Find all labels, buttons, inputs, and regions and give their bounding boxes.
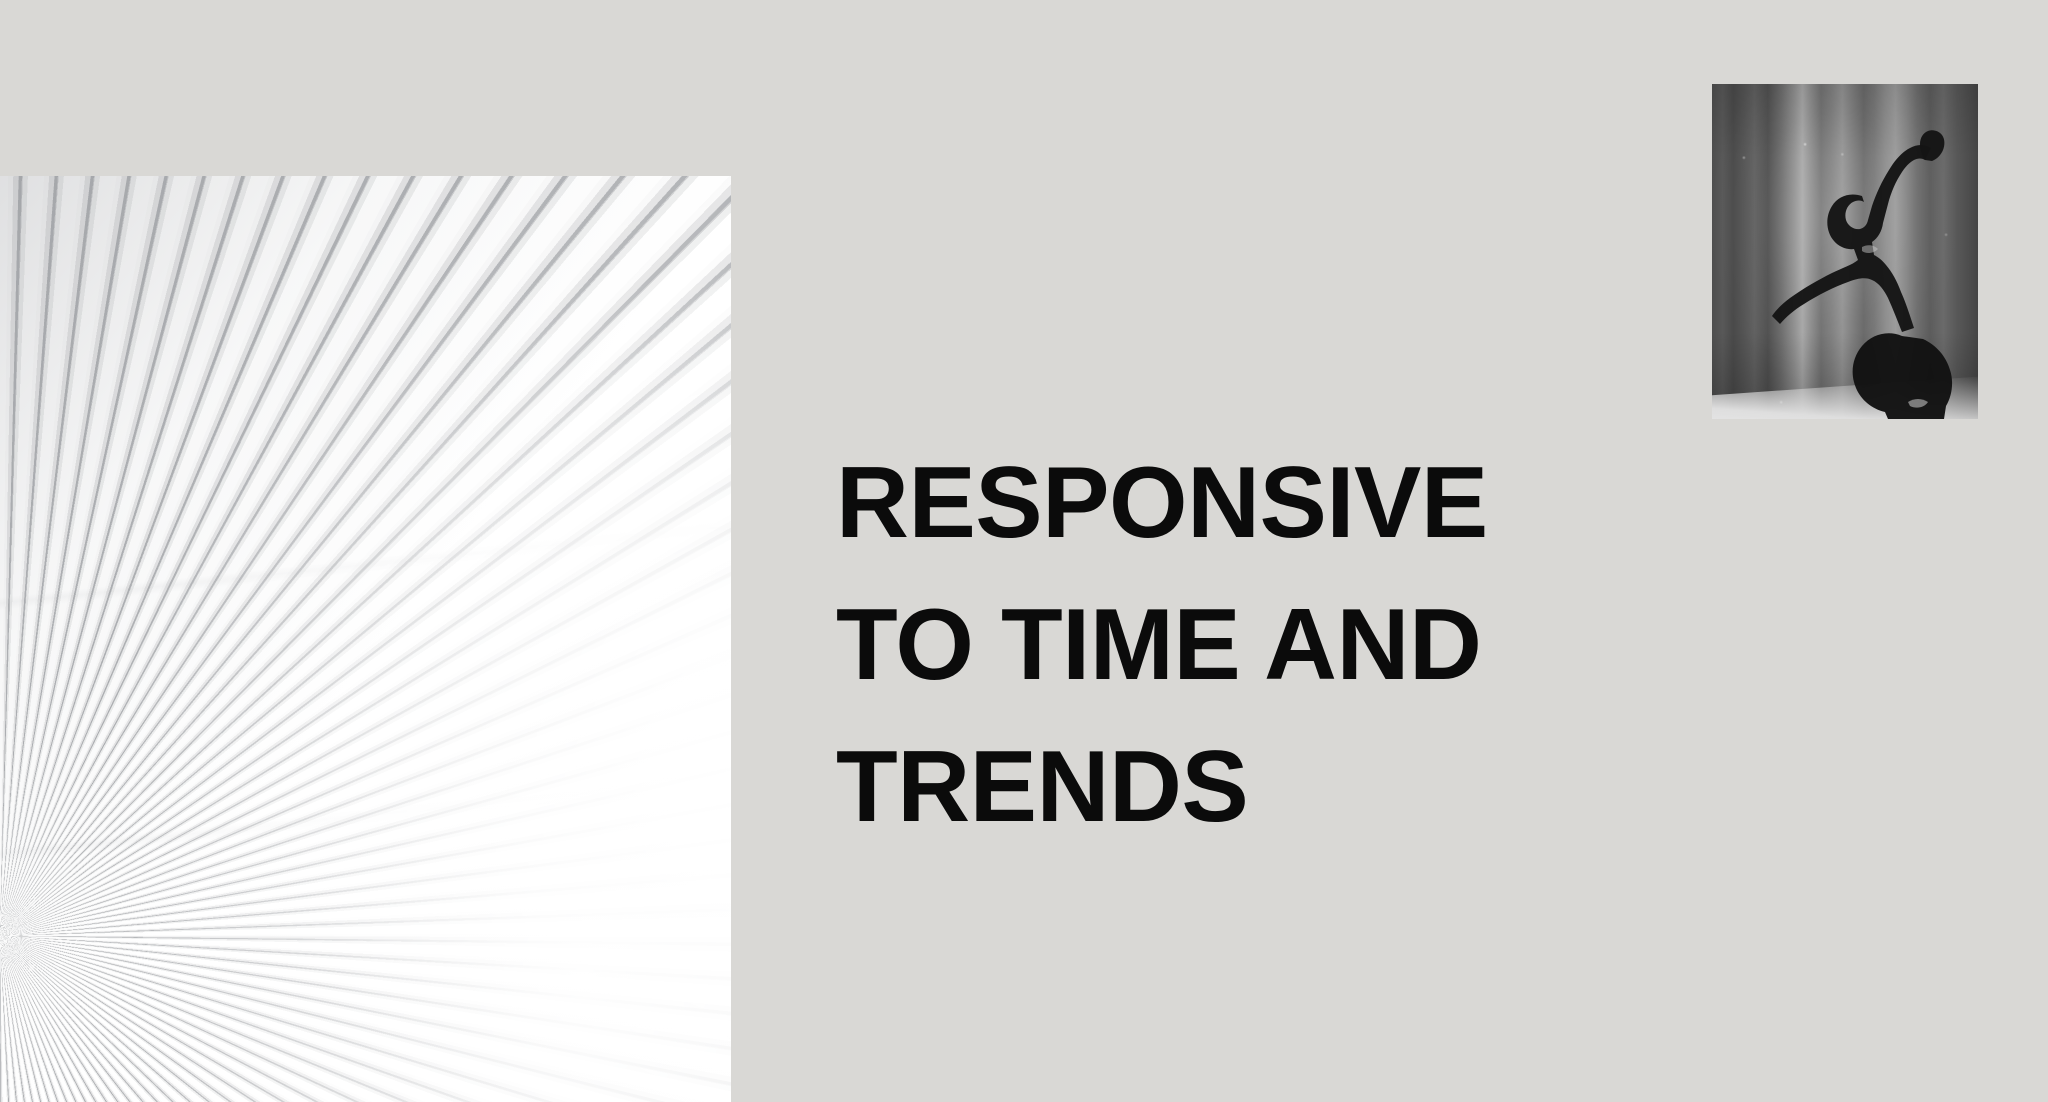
dancers-photo xyxy=(1712,84,1978,419)
headline-line-2: TO TIME AND xyxy=(836,574,1616,716)
headline-line-3: TRENDS xyxy=(836,716,1616,858)
architecture-image xyxy=(0,176,731,1102)
photo-grain xyxy=(1712,84,1978,419)
architecture-corner-shading xyxy=(0,176,731,1102)
headline-line-1: RESPONSIVE xyxy=(836,432,1616,574)
page-title: RESPONSIVE TO TIME AND TRENDS xyxy=(836,432,1616,858)
slide-canvas: RESPONSIVE TO TIME AND TRENDS xyxy=(0,0,2048,1102)
